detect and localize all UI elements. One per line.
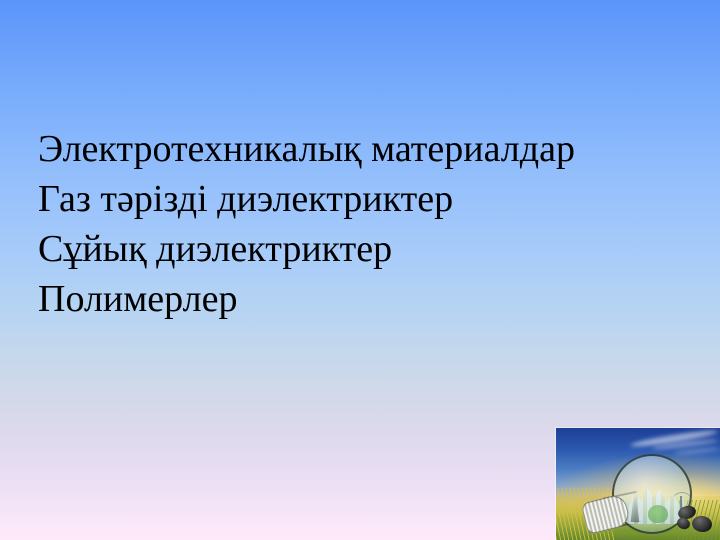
title-line-4: Полимерлер [38,274,698,324]
title-line-3: Сұйық диэлектриктер [38,224,698,274]
tree-icon [648,505,668,523]
title-line-2: Газ тәрізді диэлектриктер [38,174,698,224]
light-bulb-energy-image [556,428,720,540]
presentation-slide: Электротехникалық материалдар Газ тәрізд… [0,0,720,540]
slide-title-block: Электротехникалық материалдар Газ тәрізд… [38,124,698,324]
rocks-group [676,504,716,534]
title-line-1: Электротехникалық материалдар [38,124,698,174]
rock-icon [691,515,713,534]
